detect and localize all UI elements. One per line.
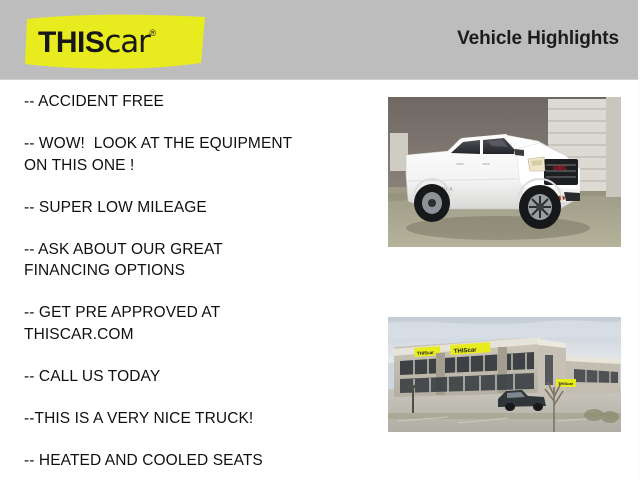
list-item: -- CALL US TODAY [24,366,369,388]
page-title: Vehicle Highlights [457,28,619,50]
list-item: -- SUPER LOW MILEAGE [24,197,369,219]
logo-text-car: car [104,24,149,60]
vehicle-photo[interactable]: GMC SIERRA [388,97,621,247]
vehicle-highlights-slide: THIScar® Vehicle Highlights -- ACCIDENT … [0,0,640,480]
list-item: -- ASK ABOUT OUR GREAT FINANCING OPTIONS [24,239,369,282]
page-header: THIScar® Vehicle Highlights [0,0,640,80]
registered-trademark-icon: ® [150,28,157,38]
vehicle-photo-illustration: GMC SIERRA [388,97,621,247]
list-item: -- HEATED AND COOLED SEATS [24,450,369,472]
list-item: -- WOW! LOOK AT THE EQUIPMENT ON THIS ON… [24,133,369,176]
dealership-photo-illustration: THIScar THIScar [388,317,621,432]
list-item: --THIS IS A VERY NICE TRUCK! [24,408,369,430]
list-item: -- GET PRE APPROVED AT THISCAR.COM [24,302,369,345]
list-item: -- ACCIDENT FREE [24,91,369,113]
logo-text-this: THIS [38,26,104,59]
highlights-list: -- ACCIDENT FREE -- WOW! LOOK AT THE EQU… [24,91,369,471]
page-body: -- ACCIDENT FREE -- WOW! LOOK AT THE EQU… [0,80,640,480]
thiscar-logo-wordmark: THIScar® [38,22,208,62]
dealership-photo[interactable]: THIScar THIScar [388,317,621,432]
svg-text:GMC: GMC [553,166,568,172]
